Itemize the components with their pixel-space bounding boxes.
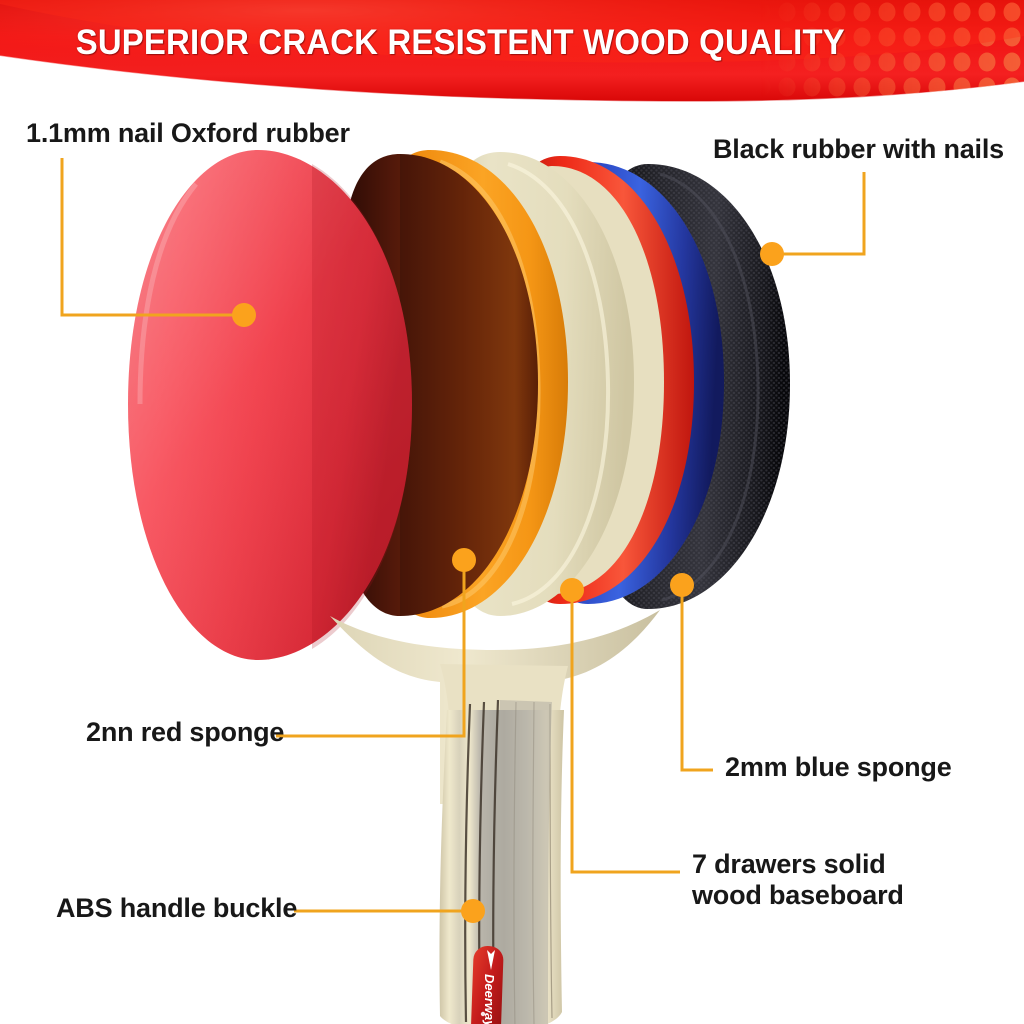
svg-text:Deerway: Deerway: [482, 974, 497, 1024]
banner-title: SUPERIOR CRACK RESISTENT WOOD QUALITY: [31, 22, 994, 64]
callout-label-wood-baseboard: 7 drawers solid wood baseboard: [692, 849, 904, 911]
callout-label-black-rubber: Black rubber with nails: [713, 134, 1004, 165]
abs-handle-buckle-badge: Deerway: [470, 946, 504, 1024]
layer-red-oxford-rubber: [128, 150, 412, 660]
callout-label-abs-buckle: ABS handle buckle: [56, 893, 297, 924]
callout-label-oxford-rubber: 1.1mm nail Oxford rubber: [26, 118, 350, 149]
callout-label-red-sponge: 2nn red sponge: [86, 717, 284, 748]
product-handle: Deerway: [330, 610, 660, 1024]
header-banner: SUPERIOR CRACK RESISTENT WOOD QUALITY: [0, 0, 1024, 104]
callout-label-blue-sponge: 2mm blue sponge: [725, 752, 952, 783]
infographic-page: SUPERIOR CRACK RESISTENT WOOD QUALITY: [0, 0, 1024, 1024]
